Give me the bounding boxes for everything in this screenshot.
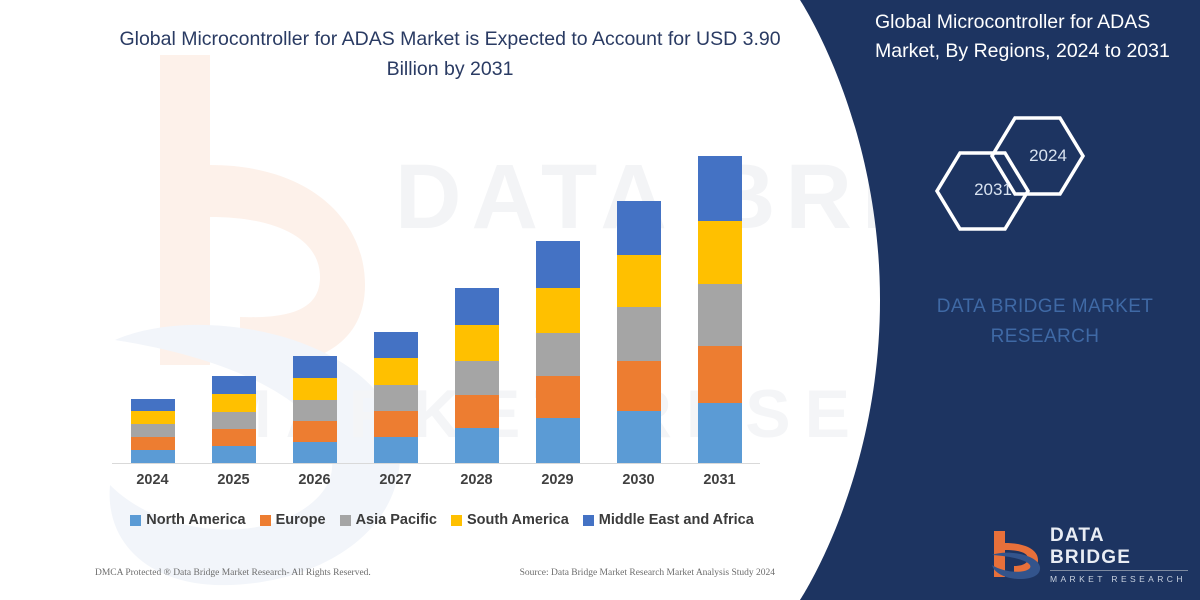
x-axis-label: 2030: [598, 472, 679, 488]
bar-segment: [131, 424, 175, 437]
bar-segment: [293, 378, 337, 400]
bar-segment: [374, 385, 418, 411]
panel-brand-line1: DATA BRIDGE MARKET: [900, 292, 1190, 322]
market-infographic: DATA BRIDGE MARKET RESEARCH Global Micro…: [0, 0, 1200, 600]
bar-segment: [536, 418, 580, 463]
bar-segment: [131, 411, 175, 424]
legend-swatch: [583, 515, 594, 526]
bar-segment: [617, 411, 661, 463]
legend-label: North America: [146, 512, 245, 528]
bar-segment: [212, 429, 256, 446]
x-axis-label: 2024: [112, 472, 193, 488]
legend-item[interactable]: Asia Pacific: [340, 512, 437, 528]
legend-item[interactable]: Middle East and Africa: [583, 512, 754, 528]
bar-segment: [374, 332, 418, 358]
hexagon-label-2031: 2031: [963, 180, 1023, 200]
bar-2026[interactable]: [293, 356, 337, 463]
bar-segment: [617, 361, 661, 411]
legend-label: Asia Pacific: [356, 512, 437, 528]
bar-segment: [536, 288, 580, 333]
panel-title: Global Microcontroller for ADAS Market, …: [875, 8, 1185, 66]
bar-segment: [536, 376, 580, 418]
bar-2025[interactable]: [212, 376, 256, 463]
bar-segment: [455, 325, 499, 361]
x-axis-label: 2029: [517, 472, 598, 488]
bar-segment: [698, 346, 742, 403]
x-axis-label: 2026: [274, 472, 355, 488]
panel-brand: DATA BRIDGE MARKET RESEARCH: [900, 292, 1190, 352]
x-axis-label: 2025: [193, 472, 274, 488]
bar-2028[interactable]: [455, 288, 499, 463]
bar-segment: [374, 411, 418, 437]
legend-swatch: [130, 515, 141, 526]
footer-source: Source: Data Bridge Market Research Mark…: [520, 568, 775, 578]
bar-segment: [212, 412, 256, 429]
logo: DATA BRIDGE MARKET RESEARCH: [988, 524, 1188, 584]
legend-item[interactable]: South America: [451, 512, 569, 528]
bar-segment: [212, 376, 256, 394]
bar-segment: [698, 156, 742, 221]
chart-legend: North AmericaEuropeAsia PacificSouth Ame…: [112, 512, 772, 528]
legend-label: South America: [467, 512, 569, 528]
x-axis-line: [112, 463, 760, 464]
panel-brand-line2: RESEARCH: [900, 322, 1190, 352]
legend-swatch: [340, 515, 351, 526]
legend-label: Middle East and Africa: [599, 512, 754, 528]
bar-segment: [698, 284, 742, 346]
bar-segment: [536, 333, 580, 376]
logo-subtitle: MARKET RESEARCH: [1050, 571, 1188, 584]
bar-segment: [131, 450, 175, 463]
bar-segment: [617, 201, 661, 255]
bar-segment: [293, 356, 337, 378]
hexagon-label-2024: 2024: [1018, 146, 1078, 166]
bar-segment: [698, 221, 742, 284]
bar-segment: [536, 241, 580, 288]
bar-segment: [617, 255, 661, 307]
bar-segment: [698, 403, 742, 463]
bar-segment: [131, 399, 175, 411]
stacked-bar-plot: [112, 140, 760, 463]
bar-2029[interactable]: [536, 241, 580, 463]
databridge-logo-icon: [988, 527, 1044, 581]
x-axis-label: 2028: [436, 472, 517, 488]
bar-segment: [455, 288, 499, 325]
hexagon-shapes: [920, 108, 1120, 243]
legend-item[interactable]: Europe: [260, 512, 326, 528]
bar-2031[interactable]: [698, 156, 742, 463]
bar-segment: [293, 421, 337, 442]
bar-segment: [374, 437, 418, 463]
chart-title: Global Microcontroller for ADAS Market i…: [110, 24, 790, 84]
bar-segment: [212, 394, 256, 412]
bar-segment: [293, 442, 337, 463]
chart-area: Global Microcontroller for ADAS Market i…: [0, 0, 800, 600]
bar-segment: [374, 358, 418, 385]
bar-segment: [455, 428, 499, 463]
x-axis-labels: 20242025202620272028202920302031: [112, 472, 760, 496]
bar-2024[interactable]: [131, 399, 175, 463]
bar-2030[interactable]: [617, 201, 661, 463]
legend-swatch: [260, 515, 271, 526]
x-axis-label: 2031: [679, 472, 760, 488]
bar-segment: [617, 307, 661, 361]
logo-text: DATA BRIDGE MARKET RESEARCH: [1050, 525, 1188, 584]
bar-segment: [293, 400, 337, 421]
bar-segment: [455, 361, 499, 395]
footer: DMCA Protected ® Data Bridge Market Rese…: [95, 568, 775, 578]
bar-2027[interactable]: [374, 332, 418, 463]
legend-swatch: [451, 515, 462, 526]
legend-label: Europe: [276, 512, 326, 528]
footer-copyright: DMCA Protected ® Data Bridge Market Rese…: [95, 568, 371, 578]
hexagon-group: 2031 2024: [920, 108, 1120, 243]
legend-item[interactable]: North America: [130, 512, 245, 528]
bar-segment: [455, 395, 499, 428]
x-axis-label: 2027: [355, 472, 436, 488]
logo-title: DATA BRIDGE: [1050, 525, 1188, 571]
bar-segment: [131, 437, 175, 450]
bar-segment: [212, 446, 256, 463]
